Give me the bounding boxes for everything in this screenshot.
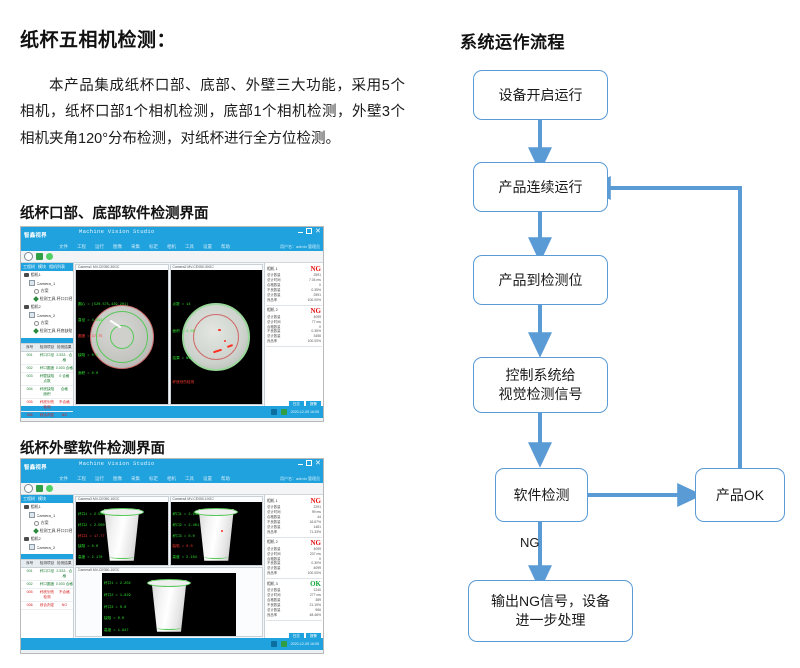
status-timestamp: 2020-12-05 16:05 — [291, 642, 319, 646]
viewport-canvas: 点数 = 14 面积 = 2.06 结果 = NG 杯底划伤检测 — [171, 270, 263, 404]
menubar-user-info: 用户名：admin 管理员 — [280, 476, 320, 482]
status-badge: NG — [311, 539, 322, 547]
menu-item-setting[interactable]: 设置 — [203, 244, 212, 250]
tree-node-label: 检测工具 杯底缺陷检测 — [40, 328, 73, 334]
tree-node[interactable]: 相机1 — [21, 271, 73, 279]
software-body: 工程树 模块 相机1 Camera_1 方案 检测工具 杯口口径检测 相机2 C… — [21, 495, 323, 638]
tree-node-label: Camera_2 — [37, 313, 56, 318]
result-block-camera3: 相机 3 OK 总计数量1240 总计时间277 ms 合格数量389 不良数量… — [266, 579, 322, 621]
screenshot-wall-ui: 智鑫视界 Machine Vision Studio ✕ 文件 工程 运行 图像… — [20, 458, 324, 654]
cup-rim-ellipse — [194, 508, 238, 516]
result-camera-name: 相机 3 — [267, 582, 278, 587]
menu-item-image[interactable]: 图像 — [113, 476, 122, 482]
viewport-label: Camera2 MV-CE050-30GC — [173, 265, 214, 269]
tool-icon — [33, 528, 39, 534]
camera-icon — [29, 312, 35, 318]
flow-node-ng-output[interactable]: 输出NG信号，设备 进一步处理 — [468, 580, 633, 642]
camera-icon[interactable] — [36, 253, 43, 260]
camera-icon — [24, 505, 29, 509]
menu-item-run[interactable]: 运行 — [95, 476, 104, 482]
cup-green-outline — [147, 579, 191, 633]
menu-item-tools[interactable]: 工具 — [185, 476, 194, 482]
software-toolbar[interactable] — [21, 251, 323, 263]
cell-result: 2.533 - 合格 — [56, 352, 73, 364]
tree-node[interactable]: 检测工具 杯底缺陷检测 — [21, 327, 73, 335]
tree-node[interactable]: 相机1 — [21, 503, 73, 511]
tree-node-label: 方案 — [41, 320, 49, 326]
column-header-result: 检测结果 — [56, 560, 73, 567]
cup-bottom-graphic — [182, 303, 250, 371]
overlay-text: 杯口2 = 1.829 — [104, 593, 131, 598]
result-header: 相机 2 NG — [267, 307, 321, 315]
result-header: 相机 2 NG — [267, 539, 321, 547]
tree-node-label: 相机1 — [31, 272, 41, 278]
tree-node[interactable]: 相机2 — [21, 303, 73, 311]
cell-result: 不合格 — [56, 589, 73, 601]
menu-item-setting[interactable]: 设置 — [203, 476, 212, 482]
tree-header: 工程树 模块 — [21, 495, 73, 503]
tool-icon — [33, 328, 39, 334]
result-value: 100.00% — [308, 571, 321, 576]
overlay-text: 缺陷 = 0.0 — [78, 544, 98, 549]
viewport-row: Camera1 MV-CE050-30GC 圆心 = (520.575,429.… — [75, 264, 263, 405]
cell-result: NG — [56, 412, 73, 419]
viewport-label: Camera5 MV-CE050-10GC — [78, 568, 119, 572]
close-icon[interactable]: ✕ — [315, 461, 320, 466]
camera-icon — [29, 544, 35, 550]
result-line: 良品率100.00% — [267, 339, 321, 344]
cell-index: 005 — [21, 589, 38, 601]
menu-item-calib[interactable]: 标定 — [149, 476, 158, 482]
image-viewports: Camera1 MV-CE050-30GC 圆心 = (520.575,429.… — [74, 263, 264, 406]
overlay-text: 杯口2 = 2.401 — [173, 523, 200, 528]
tree-header-1: 模块 — [38, 264, 46, 270]
tree-node[interactable]: 方案 — [21, 319, 73, 327]
power-icon[interactable] — [24, 484, 33, 493]
edge-label-ng: NG — [520, 535, 540, 550]
cup-red-outline — [194, 508, 239, 562]
defect-marker — [224, 340, 226, 342]
table-row[interactable]: 006综合判定NG — [21, 602, 73, 610]
overlay-text: 缺陷 = 0.0 — [173, 544, 193, 549]
flow-node-inspect[interactable]: 软件检测 — [495, 468, 588, 522]
overlay-text: 杯口2 = 2.500 — [78, 523, 105, 528]
column-header-index: 序号 — [21, 344, 38, 351]
cup-rim-ellipse — [100, 508, 144, 516]
software-app-title: Machine Vision Studio — [79, 228, 155, 235]
cell-item: 杯底缺陷面积 — [38, 386, 55, 398]
tree-node[interactable]: Camera_2 — [21, 543, 73, 551]
tree-header-2: 相机列表 — [49, 264, 65, 270]
software-toolbar[interactable] — [21, 483, 323, 495]
software-app-title: Machine Vision Studio — [79, 460, 155, 467]
cell-item: 杯口口径 — [38, 568, 55, 580]
table-row[interactable]: 006综合判定NG — [21, 412, 73, 420]
cell-item: 杯口圆度 — [38, 581, 55, 588]
cup-base-ellipse — [204, 555, 228, 559]
camera-icon — [29, 280, 35, 286]
overlay-text: 圆度 = 37.75 — [78, 334, 102, 339]
software-logo: 智鑫视界 — [24, 463, 47, 471]
menu-item-tools[interactable]: 工具 — [185, 244, 194, 250]
connection-icon — [281, 409, 287, 415]
tree-node-label: 方案 — [41, 520, 49, 526]
menu-item-acquire[interactable]: 采集 — [131, 476, 140, 482]
overlay-text: 杯口3 = 0.0 — [104, 605, 126, 610]
cell-result: 合格 — [56, 386, 73, 398]
status-badge: NG — [311, 307, 322, 315]
menu-item-help[interactable]: 帮助 — [221, 244, 230, 250]
cell-result: 不合格 — [56, 399, 73, 411]
table-row[interactable]: 003杯壁缺陷点数0 合格 — [21, 373, 73, 386]
result-value: 100.00% — [308, 339, 321, 344]
run-icon[interactable] — [46, 485, 53, 492]
result-block-camera2: 相机 2 NG 总计数量4099 总计时间207 ms 合格数量0 不良数量0.… — [266, 538, 322, 580]
result-camera-name: 相机 2 — [267, 308, 278, 313]
result-block-camera1: 相机 1 NG 总计数量2291 总计时间99 ms 合格数量44 不良数量16… — [266, 496, 322, 538]
result-panel: 相机 1 NG 总计数量2591 总计时间7.04 ms 合格数量0 不良数量0… — [264, 263, 323, 406]
software-logo: 智鑫视界 — [24, 231, 47, 239]
cell-index: 001 — [21, 352, 38, 364]
window-controls[interactable]: ✕ — [298, 228, 320, 234]
cell-item: 杯口圆度 — [38, 365, 55, 372]
overlay-text: 杯口1 = 2.640 — [173, 512, 200, 517]
tab-alarm[interactable]: 报警 — [306, 401, 321, 408]
flowchart-panel: 系统运作流程 设备开启运行 产品连续运行 产品到检测位 控制系统给 视觉检测信号… — [440, 0, 800, 668]
result-camera-name: 相机 2 — [267, 540, 278, 545]
menu-item-acquire[interactable]: 采集 — [131, 244, 140, 250]
overlay-text: 点数 = 14 — [173, 302, 191, 307]
result-key: 良品率 — [267, 530, 277, 535]
overlay-text: 杯口1 = 2.505 — [78, 512, 105, 517]
menu-item-help[interactable]: 帮助 — [221, 476, 230, 482]
screenshot-rim-bottom-ui: 智鑫视界 Machine Vision Studio ✕ 文件 工程 运行 图像… — [20, 226, 324, 422]
cup-base-ellipse — [110, 555, 134, 559]
overlay-text: 圆心 = (520.575,429.201) — [78, 302, 128, 307]
cell-item: 综合判定 — [38, 602, 55, 609]
tree-header-0: 工程树 — [23, 264, 35, 270]
cell-result: 2.533 - 合格 — [56, 568, 73, 580]
overlay-text: 高度 = 1.947 — [104, 628, 128, 633]
result-key: 良品率 — [267, 571, 277, 576]
dot-icon — [34, 521, 39, 526]
flow-node-start[interactable]: 设备开启运行 — [473, 70, 608, 120]
overlay-text: 高度 = 2.170 — [78, 555, 102, 560]
rim-core-circle — [110, 325, 134, 349]
left-column: 纸杯五相机检测： 本产品集成纸杯口部、底部、外壁三大功能，采用5个相机，纸杯口部… — [0, 0, 440, 668]
software-titlebar: 智鑫视界 Machine Vision Studio ✕ — [21, 227, 323, 242]
tab-alarm[interactable]: 报警 — [306, 633, 321, 640]
result-key: 良品率 — [267, 298, 277, 303]
cell-result: 0.003 合格 — [56, 365, 73, 372]
maximize-icon[interactable] — [306, 228, 312, 234]
camera-icon — [24, 305, 29, 309]
tree-node-label: 检测工具 杯口口径检测 — [40, 296, 73, 302]
table-row[interactable]: 005杯底划伤检测不合格 — [21, 589, 73, 602]
software-titlebar: 智鑫视界 Machine Vision Studio ✕ — [21, 459, 323, 474]
document-page: 纸杯五相机检测： 本产品集成纸杯口部、底部、外壁三大功能，采用5个相机，纸杯口部… — [0, 0, 800, 668]
result-header: 相机 1 NG — [267, 497, 321, 505]
overlay-text: 面积 = 0.0 — [78, 371, 98, 376]
viewport-canvas: 杯口1 = 2.505 杯口2 = 2.500 杯口3 = 17.77 缺陷 =… — [76, 502, 168, 565]
connection-icon — [281, 641, 287, 647]
intro-paragraph: 本产品集成纸杯口部、底部、外壁三大功能，采用5个相机，纸杯口部1个相机检测，底部… — [20, 73, 405, 153]
result-block-camera2: 相机 2 NG 总计数量4099 总计时间77 ms 合格数量0 不良数量0.3… — [266, 306, 322, 348]
flow-node-signal[interactable]: 控制系统给 视觉检测信号 — [473, 357, 608, 413]
menubar-user-info: 用户名：admin 管理员 — [280, 244, 320, 250]
cell-item: 综合判定 — [38, 412, 55, 419]
tree-node-label: Camera_1 — [37, 281, 56, 286]
result-line: 良品率48.46% — [267, 613, 321, 618]
result-camera-name: 相机 1 — [267, 499, 278, 504]
menu-item-file[interactable]: 文件 — [59, 244, 68, 250]
result-camera-name: 相机 1 — [267, 267, 278, 272]
overlay-text: 杯口1 = 2.202 — [104, 581, 131, 586]
dot-icon — [34, 289, 39, 294]
result-value: 48.46% — [310, 613, 322, 618]
tree-header-1: 模块 — [38, 496, 46, 502]
tab-log[interactable]: 日志 — [289, 401, 304, 408]
viewport-label: Camera3 MV-CE050-10GC — [78, 497, 119, 501]
cell-index: 006 — [21, 412, 38, 419]
minimize-icon[interactable] — [298, 461, 303, 465]
status-icon — [271, 641, 277, 647]
menu-item-calib[interactable]: 标定 — [149, 244, 158, 250]
viewport-label: Camera4 MV-CE050-10GC — [173, 497, 214, 501]
section-heading-rim-bottom: 纸杯口部、底部软件检测界面 — [20, 202, 209, 223]
overlay-text: 直径 = 4.993 — [78, 318, 102, 323]
result-line: 良品率100.00% — [267, 298, 321, 303]
tree-header-0: 工程树 — [23, 496, 35, 502]
cup-base-ellipse — [157, 626, 181, 630]
result-panel: 相机 1 NG 总计数量2291 总计时间99 ms 合格数量44 不良数量16… — [264, 495, 323, 638]
flow-node-ok[interactable]: 产品OK — [695, 468, 785, 522]
cell-index: 001 — [21, 568, 38, 580]
table-row[interactable]: 002杯口圆度0.003 合格 — [21, 365, 73, 373]
power-icon[interactable] — [24, 252, 33, 261]
tree-node-label: Camera_1 — [37, 513, 56, 518]
tool-icon — [33, 296, 39, 302]
menu-item-run[interactable]: 运行 — [95, 244, 104, 250]
overlay-text: 高度 = 2.104 — [173, 555, 197, 560]
result-block-camera1: 相机 1 NG 总计数量2591 总计时间7.04 ms 合格数量0 不良数量0… — [266, 264, 322, 306]
menu-item-project[interactable]: 工程 — [77, 244, 86, 250]
status-badge: OK — [310, 580, 321, 588]
result-header: 相机 1 NG — [267, 265, 321, 273]
defect-marker — [221, 530, 223, 532]
camera-icon — [24, 273, 29, 277]
viewport-camera1-rim[interactable]: Camera1 MV-CE050-30GC 圆心 = (520.575,429.… — [75, 264, 169, 405]
tree-node-label: 相机2 — [31, 304, 41, 310]
tree-node-label: Camera_2 — [37, 545, 56, 550]
project-tree-panel[interactable]: 工程树 模块 相机列表 相机1 Camera_1 方案 检测工具 杯口口径检测 … — [21, 263, 74, 406]
software-body: 工程树 模块 相机列表 相机1 Camera_1 方案 检测工具 杯口口径检测 … — [21, 263, 323, 406]
cell-item: 杯口口径 — [38, 352, 55, 364]
column-header-item: 检测项目 — [38, 560, 55, 567]
tree-node-label: 检测工具 杯口口径检测 — [40, 528, 73, 534]
window-controls[interactable]: ✕ — [298, 460, 320, 466]
tab-log[interactable]: 日志 — [289, 633, 304, 640]
defect-marker — [218, 329, 221, 331]
viewport-camera2-bottom[interactable]: Camera2 MV-CE050-30GC 点数 = 14 面积 — [170, 264, 264, 405]
minimize-icon[interactable] — [298, 229, 303, 233]
cup-red-outline — [99, 508, 144, 562]
status-badge: NG — [311, 265, 322, 273]
software-menubar[interactable]: 文件 工程 运行 图像 采集 标定 相机 工具 设置 帮助 用户名：admin … — [21, 242, 323, 251]
cell-index: 003 — [21, 373, 38, 385]
menu-item-camera[interactable]: 相机 — [167, 244, 176, 250]
cell-index: 002 — [21, 581, 38, 588]
column-header-item: 检测项目 — [38, 344, 55, 351]
status-icon — [271, 409, 277, 415]
viewport-canvas: 杯口1 = 2.202 杯口2 = 1.829 杯口3 = 0.0 缺陷 = 0… — [102, 573, 236, 636]
viewport-camera3-wall[interactable]: Camera3 MV-CE050-10GC 杯口1 = 2.505 杯口2 = … — [75, 496, 169, 566]
table-row[interactable]: 005杯底划伤检测不合格 — [21, 399, 73, 412]
flow-node-arrive[interactable]: 产品到检测位 — [473, 255, 608, 305]
menu-item-project[interactable]: 工程 — [77, 476, 86, 482]
viewport-camera5-wall[interactable]: Camera5 MV-CE050-10GC 杯口1 = 2.202 杯口2 = … — [75, 567, 263, 637]
cell-index: 006 — [21, 602, 38, 609]
result-table-header: 序号 检测项目 检测结果 — [21, 343, 73, 352]
tree-node[interactable]: 相机2 — [21, 535, 73, 543]
tree-header: 工程树 模块 相机列表 — [21, 263, 73, 271]
tree-node[interactable]: Camera_1 — [21, 279, 73, 287]
viewport-canvas: 圆心 = (520.575,429.201) 直径 = 4.993 圆度 = 3… — [76, 270, 168, 404]
result-key: 良品率 — [267, 613, 277, 618]
tree-node[interactable]: Camera_1 — [21, 511, 73, 519]
software-menubar[interactable]: 文件 工程 运行 图像 采集 标定 相机 工具 设置 帮助 用户名：admin … — [21, 474, 323, 483]
tree-node[interactable]: Camera_2 — [21, 311, 73, 319]
cell-result: NG — [56, 602, 73, 609]
flow-node-running[interactable]: 产品连续运行 — [473, 162, 608, 212]
table-row[interactable]: 001杯口口径2.533 - 合格 — [21, 352, 73, 365]
cell-item: 杯底划伤检测 — [38, 399, 55, 411]
overlay-text: 缺陷 = 0.0 — [104, 616, 124, 621]
overlay-text: 杯口3 = 17.77 — [78, 534, 105, 539]
bottom-tabs[interactable]: 日志 报警 — [289, 401, 321, 408]
image-viewports: Camera3 MV-CE050-10GC 杯口1 = 2.505 杯口2 = … — [74, 495, 264, 638]
cell-result: 0 合格 — [56, 373, 73, 385]
run-icon[interactable] — [46, 253, 53, 260]
tree-node[interactable]: 方案 — [21, 519, 73, 527]
maximize-icon[interactable] — [306, 460, 312, 466]
cell-index: 005 — [21, 399, 38, 411]
table-row[interactable]: 002杯口圆度0.003 合格 — [21, 581, 73, 589]
cell-index: 002 — [21, 365, 38, 372]
viewport-camera4-wall[interactable]: Camera4 MV-CE050-10GC 杯口1 = 2.640 杯口2 = … — [170, 496, 264, 566]
bottom-tabs[interactable]: 日志 报警 — [289, 633, 321, 640]
menu-item-file[interactable]: 文件 — [59, 476, 68, 482]
tree-node[interactable]: 方案 — [21, 287, 73, 295]
close-icon[interactable]: ✕ — [315, 229, 320, 234]
cell-index: 004 — [21, 386, 38, 398]
result-value: 71.33% — [310, 530, 322, 535]
viewport-row: Camera3 MV-CE050-10GC 杯口1 = 2.505 杯口2 = … — [75, 496, 263, 566]
overlay-text: 结果 = NG — [173, 356, 191, 361]
status-badge: NG — [311, 497, 322, 505]
cup-rim-ellipse — [147, 579, 191, 587]
software-statusbar: 2020-12-05 16:05 — [21, 638, 323, 650]
result-key: 良品率 — [267, 339, 277, 344]
dot-icon — [34, 321, 39, 326]
viewport-label: Camera1 MV-CE050-30GC — [78, 265, 119, 269]
tree-node[interactable]: 检测工具 杯口口径检测 — [21, 295, 73, 303]
column-header-index: 序号 — [21, 560, 38, 567]
viewport-canvas: 杯口1 = 2.640 杯口2 = 2.401 杯口3 = 0.0 缺陷 = 0… — [171, 502, 263, 565]
camera-icon — [29, 512, 35, 518]
tree-node-label: 相机1 — [31, 504, 41, 510]
menu-item-image[interactable]: 图像 — [113, 244, 122, 250]
result-value: 100.00% — [308, 298, 321, 303]
section-heading-wall: 纸杯外壁软件检测界面 — [20, 437, 165, 458]
status-timestamp: 2020-12-05 16:05 — [291, 410, 319, 414]
cell-item: 杯壁缺陷点数 — [38, 373, 55, 385]
table-row[interactable]: 001杯口口径2.533 - 合格 — [21, 568, 73, 581]
viewport-row: Camera5 MV-CE050-10GC 杯口1 = 2.202 杯口2 = … — [75, 567, 263, 637]
project-tree-panel[interactable]: 工程树 模块 相机1 Camera_1 方案 检测工具 杯口口径检测 相机2 C… — [21, 495, 74, 638]
result-line: 良品率100.00% — [267, 571, 321, 576]
menu-item-camera[interactable]: 相机 — [167, 476, 176, 482]
cell-item: 杯底划伤检测 — [38, 589, 55, 601]
cell-result: 0.003 合格 — [56, 581, 73, 588]
result-line: 良品率71.33% — [267, 530, 321, 535]
camera-icon — [24, 537, 29, 541]
overlay-text: 杯口3 = 0.0 — [173, 534, 195, 539]
overlay-text: 杯底划伤检测 — [173, 380, 195, 385]
column-header-result: 检测结果 — [56, 344, 73, 351]
result-table-header: 序号 检测项目 检测结果 — [21, 559, 73, 568]
tree-node[interactable]: 检测工具 杯口口径检测 — [21, 527, 73, 535]
tree-node-label: 方案 — [41, 288, 49, 294]
overlay-text: 缺陷 = 0.0 — [78, 353, 98, 358]
page-title: 纸杯五相机检测： — [20, 25, 176, 52]
camera-icon[interactable] — [36, 485, 43, 492]
overlay-text: 面积 = 2.06 — [173, 329, 195, 334]
bottom-red-circle — [193, 314, 239, 360]
table-row[interactable]: 004杯底缺陷面积合格 — [21, 386, 73, 399]
tree-node-label: 相机2 — [31, 536, 41, 542]
